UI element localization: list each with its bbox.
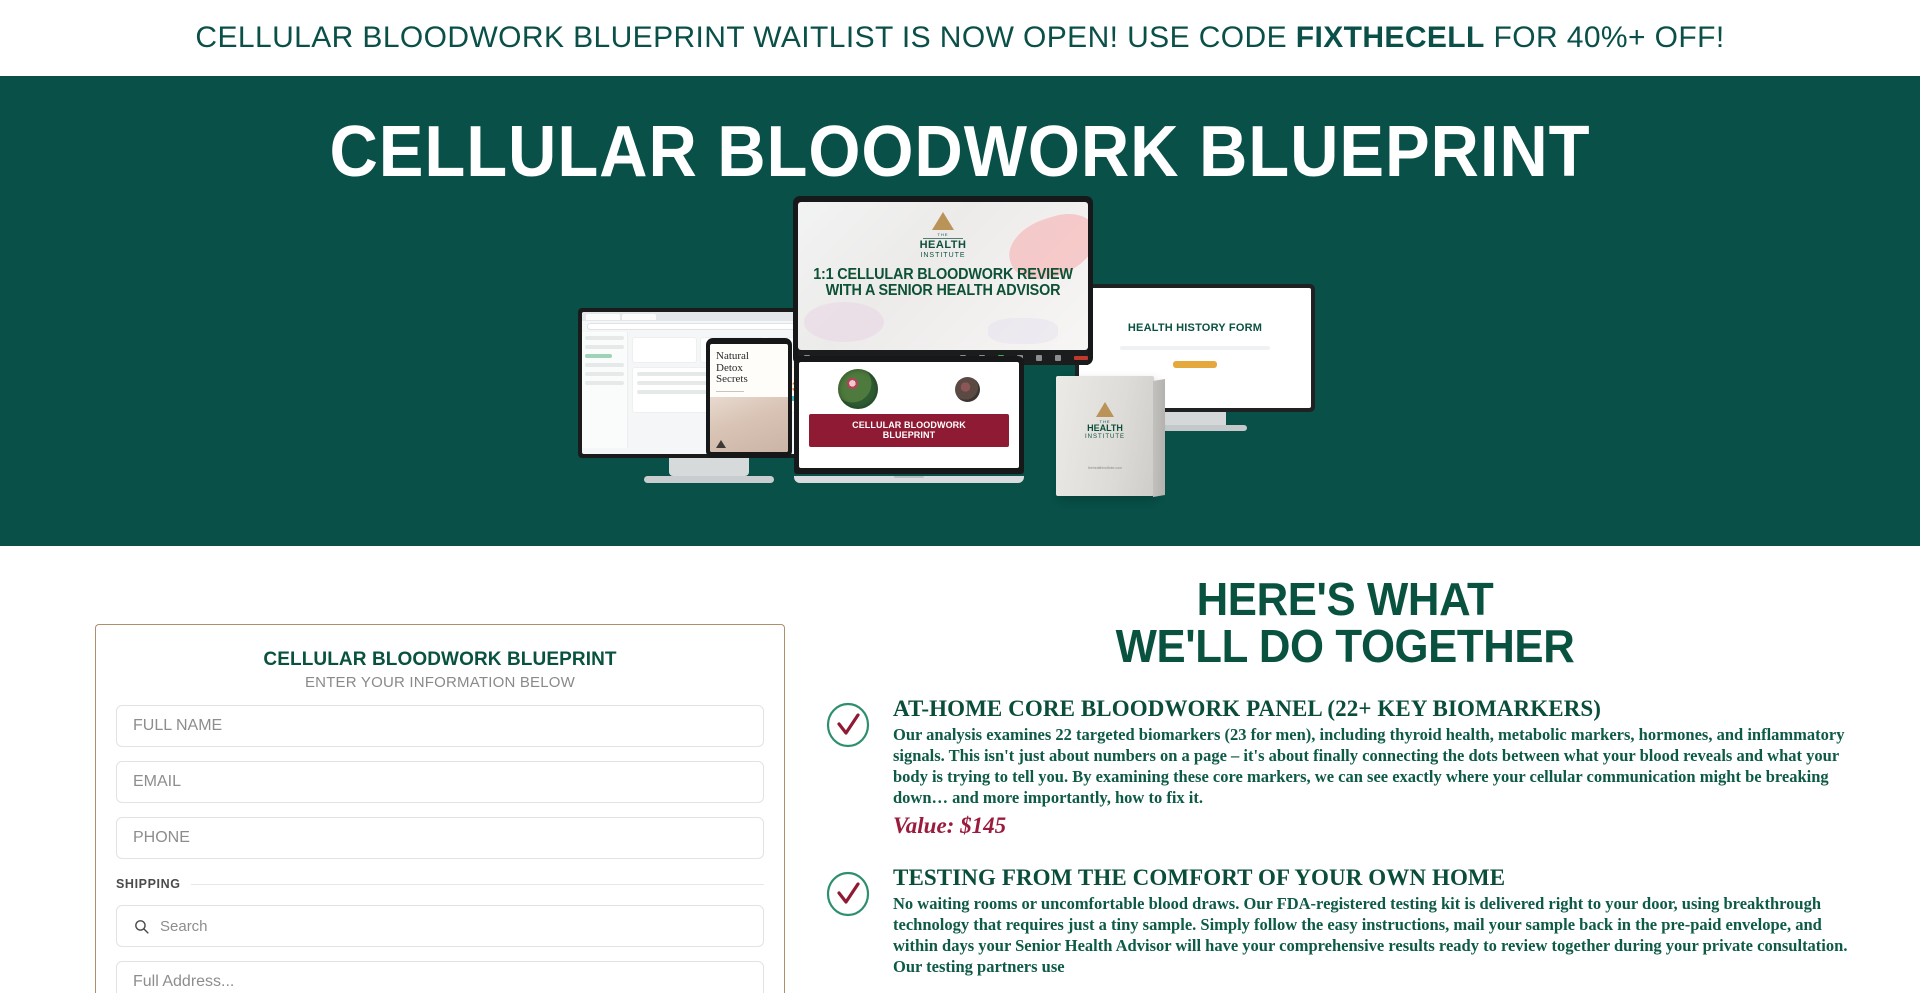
leave-call-icon xyxy=(1074,356,1088,360)
decor-blob xyxy=(804,302,884,342)
cell-image-large xyxy=(838,369,878,409)
box-logo-sub: INSTITUTE xyxy=(1085,434,1125,440)
benefit-text: Our analysis examines 22 targeted biomar… xyxy=(893,724,1865,808)
cell-illustrations xyxy=(799,369,1019,409)
benefit-title: AT-HOME CORE BLOODWORK PANEL (22+ KEY BI… xyxy=(893,696,1865,721)
headline-line-1: 1:1 CELLULAR BLOODWORK REVIEW xyxy=(813,267,1074,283)
triangle-logo-icon xyxy=(1096,402,1114,417)
center-monitor-screen: THE HEALTH INSTITUTE 1:1 CELLULAR BLOODW… xyxy=(793,196,1093,365)
full-address-input[interactable]: Full Address... xyxy=(116,961,764,993)
benefit-text: No waiting rooms or uncomfortable blood … xyxy=(893,893,1865,977)
benefit-item: TESTING FROM THE COMFORT OF YOUR OWN HOM… xyxy=(825,865,1865,978)
triangle-logo-icon xyxy=(932,212,954,230)
ebook-title-line-3: Secrets xyxy=(716,374,782,386)
laptop-frame: CELLULAR BLOODWORK BLUEPRINT xyxy=(794,356,1024,474)
phone-input[interactable]: PHONE xyxy=(116,817,764,859)
benefit-icon-wrap xyxy=(825,696,871,839)
hero-title: CELLULAR BLOODWORK BLUEPRINT xyxy=(67,76,1853,188)
benefits-heading-line-2: WE'LL DO TOGETHER xyxy=(851,623,1839,670)
sidebar-row xyxy=(585,381,624,385)
dashboard-card xyxy=(632,337,697,363)
hero-section: CELLULAR BLOODWORK BLUEPRINT xyxy=(0,76,1920,546)
order-form-card: CELLULAR BLOODWORK BLUEPRINT ENTER YOUR … xyxy=(95,624,785,993)
search-icon xyxy=(133,918,150,935)
tablet-frame: Natural Detox Secrets xyxy=(706,338,792,458)
sidebar-row-active xyxy=(585,354,612,358)
benefits-column: HERE'S WHAT WE'LL DO TOGETHER AT-HOME CO… xyxy=(785,576,1920,993)
blueprint-slide: CELLULAR BLOODWORK BLUEPRINT xyxy=(799,362,1019,468)
box-logo-name: HEALTH xyxy=(1087,424,1123,433)
video-call-screenshot: THE HEALTH INSTITUTE 1:1 CELLULAR BLOODW… xyxy=(798,202,1088,350)
ebook-title-line-1: Natural xyxy=(716,351,782,363)
search-placeholder: Search xyxy=(160,918,208,935)
check-circle-icon xyxy=(825,702,871,748)
mockup-tablet: Natural Detox Secrets xyxy=(706,338,792,458)
benefit-item: AT-HOME CORE BLOODWORK PANEL (22+ KEY BI… xyxy=(825,696,1865,839)
benefit-body: AT-HOME CORE BLOODWORK PANEL (22+ KEY BI… xyxy=(893,696,1865,839)
address-search-input[interactable]: Search xyxy=(116,905,764,947)
email-input[interactable]: EMAIL xyxy=(116,761,764,803)
ebook-divider xyxy=(716,391,744,392)
shipping-section-header: SHIPPING xyxy=(116,877,764,891)
benefit-value-row: Value: $145 xyxy=(893,813,1865,839)
video-call-headline: 1:1 CELLULAR BLOODWORK REVIEW WITH A SEN… xyxy=(813,267,1074,300)
benefit-icon-wrap xyxy=(825,865,871,978)
laptop-deck xyxy=(794,476,1024,483)
health-history-form-title: HEALTH HISTORY FORM xyxy=(1128,322,1262,334)
sidebar-row xyxy=(585,336,624,340)
logo-rule xyxy=(923,238,963,239)
benefit-body: TESTING FROM THE COMFORT OF YOUR OWN HOM… xyxy=(893,865,1865,978)
reactions-icon xyxy=(1036,355,1042,361)
more-options-icon xyxy=(1055,355,1061,361)
form-placeholder-line xyxy=(1120,346,1270,350)
mockup-product-box: THE HEALTH INSTITUTE thehealthinstitute.… xyxy=(1056,376,1154,496)
headline-line-2: WITH A SENIOR HEALTH ADVISOR xyxy=(813,283,1074,299)
promo-code: FIXTHECELL xyxy=(1296,21,1485,54)
phone-placeholder: PHONE xyxy=(133,829,190,847)
full-address-placeholder: Full Address... xyxy=(133,973,234,991)
sidebar-row xyxy=(585,363,624,367)
shipping-divider xyxy=(191,884,764,885)
sidebar-row xyxy=(585,372,624,376)
triangle-logo-icon xyxy=(716,440,726,448)
monitor-stand xyxy=(669,458,749,476)
box-front-panel: THE HEALTH INSTITUTE thehealthinstitute.… xyxy=(1056,376,1154,496)
form-submit-button-mock xyxy=(1173,361,1217,368)
health-institute-logo: THE HEALTH INSTITUTE xyxy=(798,202,1088,259)
logo-sub: INSTITUTE xyxy=(798,252,1088,259)
monitor-base xyxy=(644,476,774,483)
mockup-laptop: CELLULAR BLOODWORK BLUEPRINT xyxy=(794,356,1024,483)
laptop-notch xyxy=(894,476,924,478)
full-name-placeholder: FULL NAME xyxy=(133,717,222,735)
benefits-heading-line-1: HERE'S WHAT xyxy=(851,576,1839,623)
announcement-post: FOR 40%+ OFF! xyxy=(1485,21,1725,54)
full-name-input[interactable]: FULL NAME xyxy=(116,705,764,747)
blueprint-banner: CELLULAR BLOODWORK BLUEPRINT xyxy=(809,414,1009,447)
logo-name: HEALTH xyxy=(798,240,1088,252)
logo-the: THE xyxy=(798,232,1088,237)
browser-tab xyxy=(586,314,620,320)
form-title: CELLULAR BLOODWORK BLUEPRINT xyxy=(116,649,764,671)
announcement-text: CELLULAR BLOODWORK BLUEPRINT WAITLIST IS… xyxy=(195,21,1724,55)
announcement-pre: CELLULAR BLOODWORK BLUEPRINT WAITLIST IS… xyxy=(195,21,1295,54)
blueprint-banner-line-2: BLUEPRINT xyxy=(811,430,1007,440)
dashboard-sidebar xyxy=(582,332,628,448)
decor-blob xyxy=(988,318,1058,344)
browser-tab xyxy=(622,314,656,320)
benefits-heading: HERE'S WHAT WE'LL DO TOGETHER xyxy=(851,576,1839,670)
form-subtitle: ENTER YOUR INFORMATION BELOW xyxy=(116,674,764,691)
ebook-cover: Natural Detox Secrets xyxy=(710,344,788,452)
cell-image-small xyxy=(955,377,980,402)
product-mockup-group: 35.4 xyxy=(578,196,1338,546)
sidebar-row xyxy=(585,345,624,349)
lower-section: CELLULAR BLOODWORK BLUEPRINT ENTER YOUR … xyxy=(0,546,1920,993)
announcement-bar: CELLULAR BLOODWORK BLUEPRINT WAITLIST IS… xyxy=(0,0,1920,76)
blueprint-banner-line-1: CELLULAR BLOODWORK xyxy=(811,420,1007,430)
monitor-stand xyxy=(1164,412,1226,425)
email-placeholder: EMAIL xyxy=(133,773,181,791)
box-url: thehealthinstitute.com xyxy=(1088,466,1122,470)
benefit-title: TESTING FROM THE COMFORT OF YOUR OWN HOM… xyxy=(893,865,1865,890)
shipping-label: SHIPPING xyxy=(116,877,181,891)
check-circle-icon xyxy=(825,871,871,917)
box-side-panel xyxy=(1153,379,1165,497)
benefit-value: Value: $145 xyxy=(893,813,1865,839)
